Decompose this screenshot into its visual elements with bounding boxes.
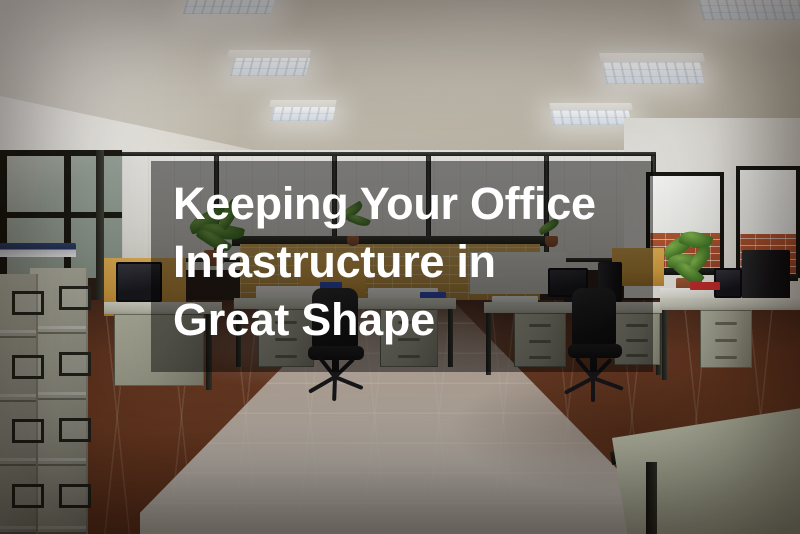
desk-pedestal-far-right xyxy=(700,310,752,368)
filing-cabinet-left-front xyxy=(0,274,38,534)
window-head-rail xyxy=(96,152,656,156)
ceiling-light-housing xyxy=(599,53,705,62)
drawer-handle xyxy=(715,339,737,342)
ceiling-light-back-right xyxy=(697,0,800,20)
cabinet-drawer[interactable] xyxy=(0,466,36,534)
cabinet-drawer[interactable] xyxy=(0,274,36,338)
ceiling-light-front-left xyxy=(271,107,336,121)
cabinet-drawer[interactable] xyxy=(0,402,36,466)
chair-base-arm xyxy=(591,378,595,402)
doorway-jamb xyxy=(96,150,104,300)
foreground-table-leg xyxy=(646,462,657,534)
paper-stack-on-cabinet xyxy=(0,243,76,257)
headline-overlay-panel: Keeping Your Office Infastructure in Gre… xyxy=(151,161,653,372)
desk-far-right xyxy=(660,298,800,310)
drawer-handle xyxy=(715,322,737,325)
desk-leg xyxy=(662,310,667,380)
cabinet-drawer[interactable] xyxy=(0,338,36,402)
red-folder xyxy=(690,282,720,290)
ceiling-light-housing xyxy=(269,100,336,107)
ceiling-light-back-left xyxy=(183,0,277,14)
hero-banner: Keeping Your Office Infastructure in Gre… xyxy=(0,0,800,534)
ceiling-light-mid-right xyxy=(602,62,705,84)
ceiling-light-mid-left xyxy=(230,58,310,76)
ceiling-light-housing xyxy=(549,103,632,110)
ceiling-light-housing xyxy=(227,50,311,58)
chair-base-arm xyxy=(332,377,337,401)
drawer-handle xyxy=(715,356,737,359)
ceiling-light-front-right xyxy=(551,110,632,125)
page-title: Keeping Your Office Infastructure in Gre… xyxy=(173,175,643,349)
